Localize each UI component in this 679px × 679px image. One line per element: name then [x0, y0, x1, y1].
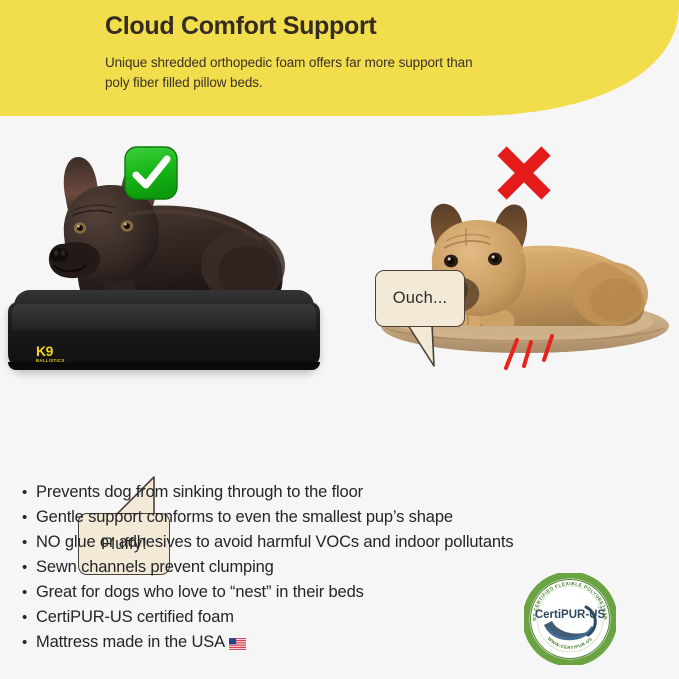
k9-logo-text: K9: [36, 344, 65, 358]
bullet-glyph: •: [22, 635, 36, 650]
usa-flag-icon: [229, 638, 246, 650]
red-compression-lines-icon: [500, 332, 570, 372]
bullet-glyph: •: [22, 535, 36, 550]
list-item: • Gentle support conforms to even the sm…: [22, 509, 652, 526]
feature-text: Gentle support conforms to even the smal…: [36, 509, 652, 526]
green-check-badge-icon: [124, 146, 178, 200]
certipur-brand-text: CertiPUR-US: [535, 609, 606, 621]
header-text-block: Cloud Comfort Support Unique shredded or…: [0, 0, 679, 140]
feature-text: Prevents dog from sinking through to the…: [36, 484, 652, 501]
list-item: • NO glue or adhesives to avoid harmful …: [22, 534, 652, 551]
ouch-bubble-label: Ouch...: [393, 289, 448, 308]
bullet-glyph: •: [22, 510, 36, 525]
k9-logo-subtext: BALLISTICS: [36, 359, 65, 363]
header-subtitle: Unique shredded orthopedic foam offers f…: [105, 53, 475, 92]
bullet-glyph: •: [22, 560, 36, 575]
feature-text-label: Mattress made in the USA: [36, 633, 225, 651]
feature-text: NO glue or adhesives to avoid harmful VO…: [36, 534, 652, 551]
ouch-bubble-tail: [404, 320, 454, 368]
red-x-mark-icon: [494, 144, 554, 202]
bullet-glyph: •: [22, 610, 36, 625]
k9-brand-logo: K9 BALLISTICS: [36, 344, 65, 363]
list-item: • Prevents dog from sinking through to t…: [22, 484, 652, 501]
ouch-speech-bubble: Ouch...: [375, 270, 465, 327]
bullet-glyph: •: [22, 585, 36, 600]
product-infographic: Cloud Comfort Support Unique shredded or…: [0, 0, 679, 679]
page-title: Cloud Comfort Support: [105, 11, 679, 41]
bullet-glyph: •: [22, 485, 36, 500]
certipur-us-seal-icon: CertiPUR-US ™ CONTAINS CERTIFIED FLEXIBL…: [524, 573, 616, 665]
comparison-row: K9 BALLISTICS: [0, 120, 679, 470]
